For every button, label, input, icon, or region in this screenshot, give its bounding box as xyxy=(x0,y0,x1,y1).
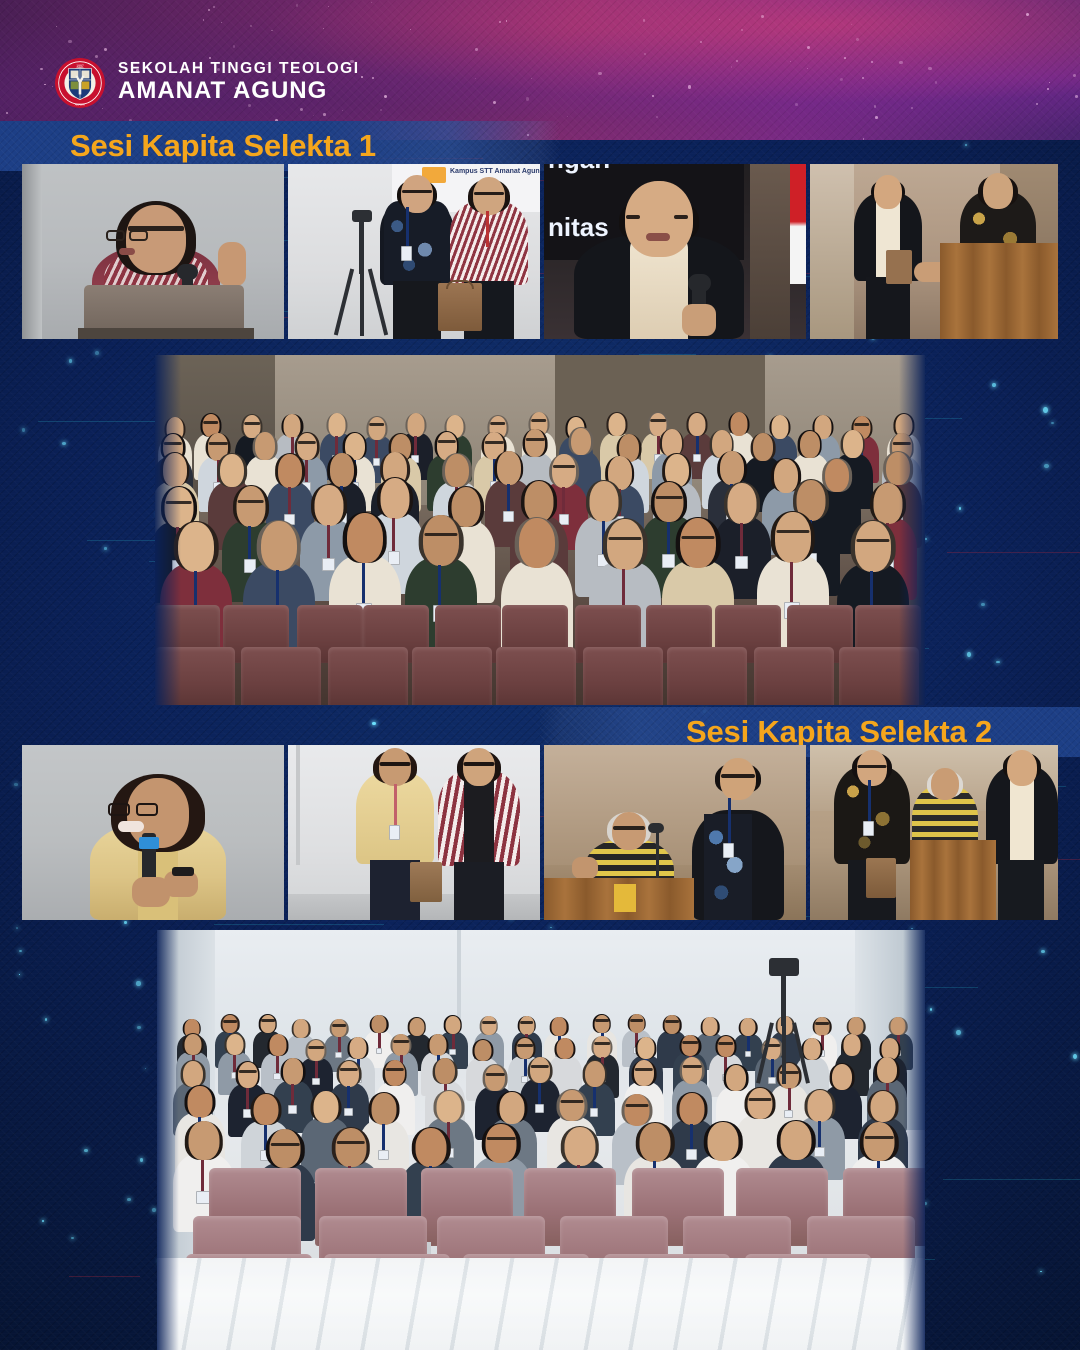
auditorium-chair xyxy=(583,647,663,705)
person-glasses-icon xyxy=(748,1098,771,1101)
person-glasses-icon xyxy=(635,1068,653,1071)
sparkle-dot xyxy=(104,547,107,549)
person-glasses-icon xyxy=(531,1065,549,1068)
photo-podium-qa xyxy=(544,745,806,920)
header-dust-speck xyxy=(844,57,846,59)
header-dust-speck xyxy=(506,20,507,21)
person-glasses-icon xyxy=(482,1021,496,1024)
person-lanyard xyxy=(438,565,441,609)
header-dust-speck xyxy=(296,4,299,7)
person-head xyxy=(486,1124,517,1163)
person-glasses-icon xyxy=(666,1020,680,1023)
person-glasses-icon xyxy=(608,537,641,540)
person-lanyard xyxy=(538,1083,541,1106)
person-head xyxy=(564,1127,595,1166)
photo-two-women-gift xyxy=(288,745,540,920)
person-glasses-icon xyxy=(683,1065,701,1068)
person-lanyard xyxy=(362,563,365,607)
person-glasses-icon xyxy=(815,1022,829,1025)
sparkle-dot xyxy=(45,1018,47,1021)
header-dust-speck xyxy=(598,72,601,75)
person-head xyxy=(708,1122,739,1161)
header-dust-speck xyxy=(875,116,878,119)
sparkle-dot xyxy=(124,921,127,924)
photo-handshake-podium-1 xyxy=(810,164,1058,339)
header-dust-speck xyxy=(323,113,326,116)
person-head xyxy=(261,521,297,571)
person-glasses-icon xyxy=(336,1141,365,1144)
header-dust-speck xyxy=(526,97,530,101)
person-badge xyxy=(735,556,748,570)
header-dust-speck xyxy=(863,138,864,139)
person-glasses-icon xyxy=(520,1021,534,1024)
sparkle-dot xyxy=(62,442,66,445)
person-head xyxy=(607,519,643,569)
person-head xyxy=(278,454,302,488)
glitch-streak xyxy=(947,552,1080,553)
screen-text-1: ngan xyxy=(548,164,610,175)
person-head xyxy=(781,1121,812,1160)
person-glasses-icon xyxy=(486,1073,504,1076)
person-glasses-icon xyxy=(630,1019,644,1022)
auditorium-chair xyxy=(754,647,834,705)
header-dust-speck xyxy=(795,103,798,106)
person-lanyard xyxy=(790,562,793,606)
header-dust-speck xyxy=(40,68,42,70)
person-badge xyxy=(196,1191,210,1204)
glitch-streak xyxy=(943,1179,1080,1180)
auditorium-chair xyxy=(412,647,492,705)
person-head xyxy=(347,513,383,563)
photo-speaker-woman-microphone xyxy=(22,745,284,920)
brand-lockup: 1997 AMANAT SEKOLAH TINGGI TEOLOGI AMANA… xyxy=(54,57,360,109)
person-glasses-icon xyxy=(385,1068,403,1071)
person-glasses-icon xyxy=(857,539,890,542)
sparkle-dot xyxy=(911,928,913,930)
svg-text:1997: 1997 xyxy=(76,64,84,68)
header-dust-speck xyxy=(1047,88,1048,89)
poster-header: 1997 AMANAT SEKOLAH TINGGI TEOLOGI AMANA… xyxy=(0,0,1080,140)
photo-audience-seated xyxy=(157,930,925,1350)
header-dust-speck xyxy=(1036,103,1037,104)
person-glasses-icon xyxy=(560,1100,583,1103)
person-head xyxy=(741,1018,756,1037)
person-glasses-icon xyxy=(393,1040,409,1043)
auditorium-chair xyxy=(241,647,321,705)
auditorium-chair xyxy=(496,647,576,705)
person-head xyxy=(270,1129,301,1168)
person-glasses-icon xyxy=(682,536,715,539)
sparkle-dot xyxy=(84,1149,88,1152)
sparkle-dot xyxy=(1043,407,1048,413)
header-dust-speck xyxy=(652,95,654,97)
glitch-streak xyxy=(214,924,383,925)
person-glasses-icon xyxy=(425,533,458,536)
brand-line-2: AMANAT AGUNG xyxy=(118,79,360,103)
header-dust-speck xyxy=(656,116,658,118)
header-dust-speck xyxy=(104,48,107,51)
person-head xyxy=(775,512,811,562)
header-dust-speck xyxy=(719,19,720,20)
sparkle-dot xyxy=(372,722,376,726)
header-dust-speck xyxy=(899,61,902,64)
sparkle-dot xyxy=(42,1220,44,1223)
person-glasses-icon xyxy=(340,1068,358,1071)
person-head xyxy=(855,521,891,571)
header-dust-speck xyxy=(208,9,210,11)
person-head xyxy=(519,518,555,568)
sparkle-dot xyxy=(967,652,971,657)
header-dust-speck xyxy=(313,115,314,116)
header-dust-speck xyxy=(911,107,913,109)
person-head xyxy=(416,1128,447,1167)
header-dust-speck xyxy=(475,48,478,51)
person-glasses-icon xyxy=(487,1137,516,1140)
header-dust-speck xyxy=(790,61,791,62)
person-glasses-icon xyxy=(594,1042,610,1045)
photo-speaker-man-microphone: ngan nitas xyxy=(544,164,806,339)
banner-session-1-label: Sesi Kapita Selekta 1 xyxy=(70,128,376,164)
person-head xyxy=(864,1122,895,1161)
header-dust-speck xyxy=(56,26,57,27)
sparkle-dot xyxy=(1044,464,1049,468)
person-lanyard xyxy=(382,1124,385,1152)
person-head xyxy=(188,1121,219,1160)
institution-seal-icon: 1997 AMANAT xyxy=(54,57,106,109)
photo-speaker-woman-laptop xyxy=(22,164,284,339)
brand-line-1: SEKOLAH TINGGI TEOLOGI xyxy=(118,61,360,77)
header-dust-speck xyxy=(493,101,496,104)
poster-canvas: 1997 AMANAT SEKOLAH TINGGI TEOLOGI AMANA… xyxy=(0,0,1080,1350)
person-lanyard xyxy=(201,1160,204,1194)
header-dust-speck xyxy=(840,78,843,81)
person-head xyxy=(178,522,214,572)
person-glasses-icon xyxy=(223,1020,237,1023)
person-head xyxy=(335,1128,366,1167)
photo-audience-standing xyxy=(155,355,925,705)
person-lanyard xyxy=(740,523,743,558)
person-lanyard xyxy=(747,1036,750,1052)
person-glasses-icon xyxy=(595,1019,609,1022)
header-dust-speck xyxy=(380,109,382,111)
person-glasses-icon xyxy=(271,1143,300,1146)
person-glasses-icon xyxy=(718,1042,734,1045)
person-glasses-icon xyxy=(865,1136,894,1139)
auditorium-chair xyxy=(328,647,408,705)
person-lanyard xyxy=(291,1084,294,1107)
sparkle-dot xyxy=(127,1198,131,1201)
header-dust-speck xyxy=(935,81,938,84)
sparkle-dot xyxy=(136,981,140,985)
sparkle-dot xyxy=(14,783,18,786)
auditorium-chair xyxy=(667,647,747,705)
photo-group-three-podium xyxy=(810,745,1058,920)
header-dust-speck xyxy=(871,61,873,63)
person-glasses-icon xyxy=(238,1070,256,1073)
person-glasses-icon xyxy=(261,1019,275,1022)
glitch-streak xyxy=(69,1276,140,1277)
sparkle-dot xyxy=(930,1008,932,1011)
header-dust-speck xyxy=(874,105,877,108)
photo-handover-gift-1: Kampus STT Amanat Agung webinar xyxy=(288,164,540,339)
person-glasses-icon xyxy=(683,1041,699,1044)
sparkle-dot xyxy=(956,1030,960,1035)
person-head xyxy=(680,518,716,568)
svg-text:AMANAT: AMANAT xyxy=(75,102,86,106)
header-dust-speck xyxy=(1073,74,1076,77)
header-dust-speck xyxy=(68,40,71,43)
header-dust-speck xyxy=(807,46,810,49)
person-head xyxy=(640,1123,671,1162)
person-head xyxy=(423,515,459,565)
person-glasses-icon xyxy=(776,530,809,533)
